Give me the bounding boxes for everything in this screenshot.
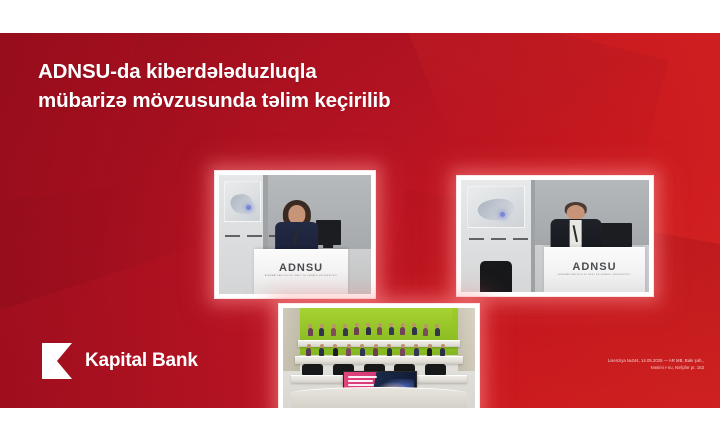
dash bbox=[491, 238, 506, 240]
photo-bottom-scene bbox=[283, 308, 475, 408]
dash bbox=[225, 235, 240, 237]
audience-person bbox=[373, 348, 378, 356]
screen-highlight-dot bbox=[246, 205, 251, 210]
audience-person bbox=[306, 348, 311, 356]
photo-bottom[interactable] bbox=[279, 304, 479, 408]
seat bbox=[425, 364, 446, 375]
audience-person bbox=[412, 327, 417, 335]
slide-text-line bbox=[348, 384, 375, 386]
podium-logo-sub: AZƏRBAYCAN DÖVLƏT NEFT VƏ SƏNAYE UNIVERS… bbox=[558, 274, 630, 276]
brand-lockup: Kapital Bank bbox=[40, 342, 198, 380]
hall-green-wall bbox=[295, 308, 452, 339]
audience-person bbox=[435, 328, 440, 336]
audience-person bbox=[400, 348, 405, 356]
seat bbox=[302, 364, 323, 375]
podium-left: ADNSU AZƏRBAYCAN DÖVLƏT NEFT VƏ SƏNAYE U… bbox=[254, 249, 348, 294]
audience-person bbox=[389, 327, 394, 335]
audience-person bbox=[366, 327, 371, 335]
podium-right: ADNSU AZƏRBAYCAN DÖVLƏT NEFT VƏ SƏNAYE U… bbox=[544, 247, 646, 292]
slide-text-line bbox=[348, 380, 373, 382]
dash bbox=[469, 238, 484, 240]
legal-disclaimer: Lisenziya №244, 14.05.2025 — AR MB, Bakı… bbox=[524, 357, 704, 372]
audience-person bbox=[343, 328, 348, 336]
front-desk bbox=[291, 387, 468, 408]
projection-screen-right bbox=[467, 186, 525, 228]
audience-person bbox=[427, 348, 432, 356]
headline-line-2: mübarizə mövzusunda təlim keçirilib bbox=[38, 86, 508, 115]
legal-line-2: Nəsimi r-nu, Nəfçilər pr. 153 bbox=[524, 364, 704, 371]
slide-text-line bbox=[348, 376, 377, 378]
audience-person bbox=[354, 327, 359, 335]
podium-logo-left: ADNSU AZƏRBAYCAN DÖVLƏT NEFT VƏ SƏNAYE U… bbox=[265, 262, 337, 277]
podium-logo-sub: AZƏRBAYCAN DÖVLƏT NEFT VƏ SƏNAYE UNIVERS… bbox=[265, 275, 337, 277]
audience-person bbox=[423, 328, 428, 336]
podium-logo-text: ADNSU bbox=[279, 262, 323, 274]
audience-person bbox=[387, 348, 392, 356]
banner-stage: ADNSU-da kiberdələduzluqla mübarizə mövz… bbox=[0, 0, 720, 446]
audience-person bbox=[400, 327, 405, 335]
legal-line-1: Lisenziya №244, 14.05.2025 — AR MB, Bakı… bbox=[524, 357, 704, 364]
wall-dashes bbox=[469, 238, 528, 240]
podium-logo-text: ADNSU bbox=[572, 261, 616, 273]
photo-right-scene: ADNSU AZƏRBAYCAN DÖVLƏT NEFT VƏ SƏNAYE U… bbox=[461, 180, 649, 292]
dash bbox=[247, 235, 262, 237]
audience-person bbox=[331, 328, 336, 336]
podium-monitor bbox=[316, 220, 340, 245]
audience-person bbox=[360, 348, 365, 356]
office-chair bbox=[480, 261, 512, 292]
podium-monitor bbox=[598, 223, 632, 248]
audience-person bbox=[319, 328, 324, 336]
projection-screen-left bbox=[224, 181, 261, 222]
audience-person bbox=[440, 348, 445, 356]
audience-person bbox=[377, 327, 382, 335]
photo-right[interactable]: ADNSU AZƏRBAYCAN DÖVLƏT NEFT VƏ SƏNAYE U… bbox=[457, 176, 653, 296]
speaker-man bbox=[551, 202, 600, 254]
margin-top bbox=[0, 0, 720, 33]
bench-middle bbox=[295, 356, 464, 364]
headline-line-1: ADNSU-da kiberdələduzluqla bbox=[38, 60, 317, 83]
audience-person bbox=[308, 328, 313, 336]
audience-person bbox=[346, 348, 351, 356]
photo-left[interactable]: ADNSU AZƏRBAYCAN DÖVLƏT NEFT VƏ SƏNAYE U… bbox=[215, 171, 375, 298]
audience-person bbox=[414, 348, 419, 356]
audience-person bbox=[319, 348, 324, 356]
screen-highlight-dot bbox=[500, 212, 505, 217]
dash bbox=[513, 238, 528, 240]
podium-logo-right: ADNSU AZƏRBAYCAN DÖVLƏT NEFT VƏ SƏNAYE U… bbox=[558, 261, 630, 276]
kapital-bank-logo-icon bbox=[40, 342, 74, 380]
margin-bottom bbox=[0, 408, 720, 446]
red-banner: ADNSU-da kiberdələduzluqla mübarizə mövz… bbox=[0, 33, 720, 408]
photo-left-scene: ADNSU AZƏRBAYCAN DÖVLƏT NEFT VƏ SƏNAYE U… bbox=[219, 175, 371, 294]
audience-person bbox=[333, 348, 338, 356]
brand-name: Kapital Bank bbox=[85, 350, 198, 372]
headline: ADNSU-da kiberdələduzluqla mübarizə mövz… bbox=[38, 57, 508, 115]
